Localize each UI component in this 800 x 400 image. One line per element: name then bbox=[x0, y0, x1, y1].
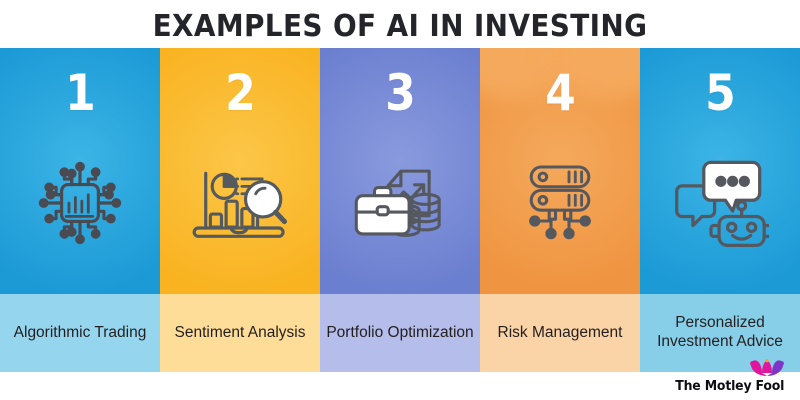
laptop-analytics-magnifier-icon bbox=[160, 118, 320, 294]
briefcase-growth-coins-icon bbox=[320, 118, 480, 294]
column-3-number: 3 bbox=[385, 68, 416, 118]
page-title: EXAMPLES OF AI IN INVESTING bbox=[28, 4, 772, 48]
jester-cap-icon bbox=[750, 359, 784, 382]
motley-fool-logo[interactable]: The Motley Fool bbox=[673, 379, 787, 394]
column-portfolio-optimization[interactable]: 3 bbox=[320, 48, 480, 372]
server-circuit-icon bbox=[480, 118, 640, 294]
column-5-number: 5 bbox=[705, 68, 736, 118]
column-3-label: Portfolio Optimization bbox=[320, 294, 480, 372]
column-1-number: 1 bbox=[65, 68, 96, 118]
columns-container: 1 bbox=[0, 48, 800, 372]
column-2-label: Sentiment Analysis bbox=[160, 294, 320, 372]
column-algorithmic-trading[interactable]: 1 bbox=[0, 48, 160, 372]
column-5-panel: 5 bbox=[640, 48, 800, 294]
column-risk-management[interactable]: 4 bbox=[480, 48, 640, 372]
column-4-panel: 4 bbox=[480, 48, 640, 294]
column-2-panel: 2 bbox=[160, 48, 320, 294]
column-4-number: 4 bbox=[545, 68, 576, 118]
chatbot-speech-robot-icon bbox=[640, 118, 800, 294]
ai-chip-bar-chart-icon bbox=[0, 118, 160, 294]
infographic-root: EXAMPLES OF AI IN INVESTING 1 bbox=[0, 0, 800, 400]
column-1-panel: 1 bbox=[0, 48, 160, 294]
column-3-panel: 3 bbox=[320, 48, 480, 294]
column-personalized-investment-advice[interactable]: 5 bbox=[640, 48, 800, 372]
column-sentiment-analysis[interactable]: 2 bbox=[160, 48, 320, 372]
column-4-label: Risk Management bbox=[480, 294, 640, 372]
column-2-number: 2 bbox=[225, 68, 256, 118]
column-1-label: Algorithmic Trading bbox=[0, 294, 160, 372]
